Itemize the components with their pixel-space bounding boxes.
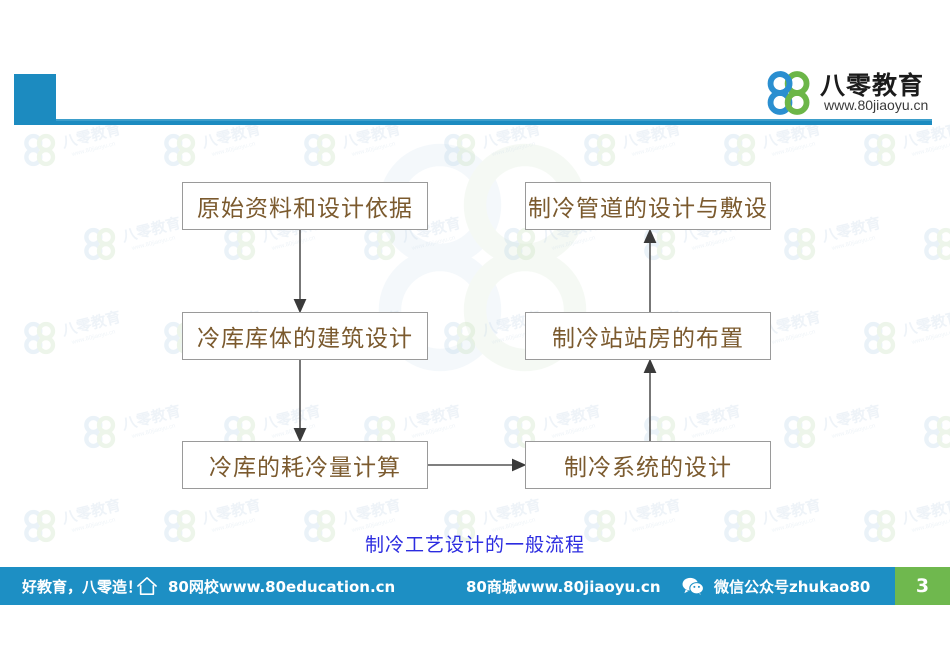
brand-logo: 八零教育 www.80jiaoyu.cn <box>762 66 942 122</box>
wechat-icon[interactable] <box>680 567 706 605</box>
flow-node-label: 冷库的耗冷量计算 <box>209 448 401 482</box>
flow-node-n4[interactable]: 制冷管道的设计与敷设 <box>525 182 771 230</box>
flow-node-label: 制冷站站房的布置 <box>552 319 744 353</box>
footer-bar: 好教育，八零造！ 80网校www.80education.cn 80商城www.… <box>0 567 950 605</box>
flow-node-label: 冷库库体的建筑设计 <box>197 319 413 353</box>
page-number-badge: 3 <box>895 567 950 605</box>
brand-url: www.80jiaoyu.cn <box>824 97 928 113</box>
flow-node-label: 制冷管道的设计与敷设 <box>528 189 768 223</box>
flow-node-n6[interactable]: 制冷系统的设计 <box>525 441 771 489</box>
footer-wechat-account[interactable]: 微信公众号zhukao80 <box>714 567 870 605</box>
flow-node-n3[interactable]: 冷库的耗冷量计算 <box>182 441 428 489</box>
home-icon[interactable] <box>134 567 160 605</box>
footer-slogan: 好教育，八零造！ <box>22 567 142 605</box>
slide-canvas: 八零教育www.80jiaoyu.cn八零教育www.80jiaoyu.cn八零… <box>0 0 950 672</box>
flow-node-label: 原始资料和设计依据 <box>197 189 413 223</box>
flow-node-n2[interactable]: 冷库库体的建筑设计 <box>182 312 428 360</box>
flowchart-caption: 制冷工艺设计的一般流程 <box>0 530 950 557</box>
infinity-80-logo-icon <box>762 68 816 118</box>
footer-mall-link[interactable]: 80商城www.80jiaoyu.cn <box>466 567 661 605</box>
flow-node-label: 制冷系统的设计 <box>564 448 732 482</box>
flow-node-n5[interactable]: 制冷站站房的布置 <box>525 312 771 360</box>
footer-school-link[interactable]: 80网校www.80education.cn <box>168 567 395 605</box>
flow-node-n1[interactable]: 原始资料和设计依据 <box>182 182 428 230</box>
